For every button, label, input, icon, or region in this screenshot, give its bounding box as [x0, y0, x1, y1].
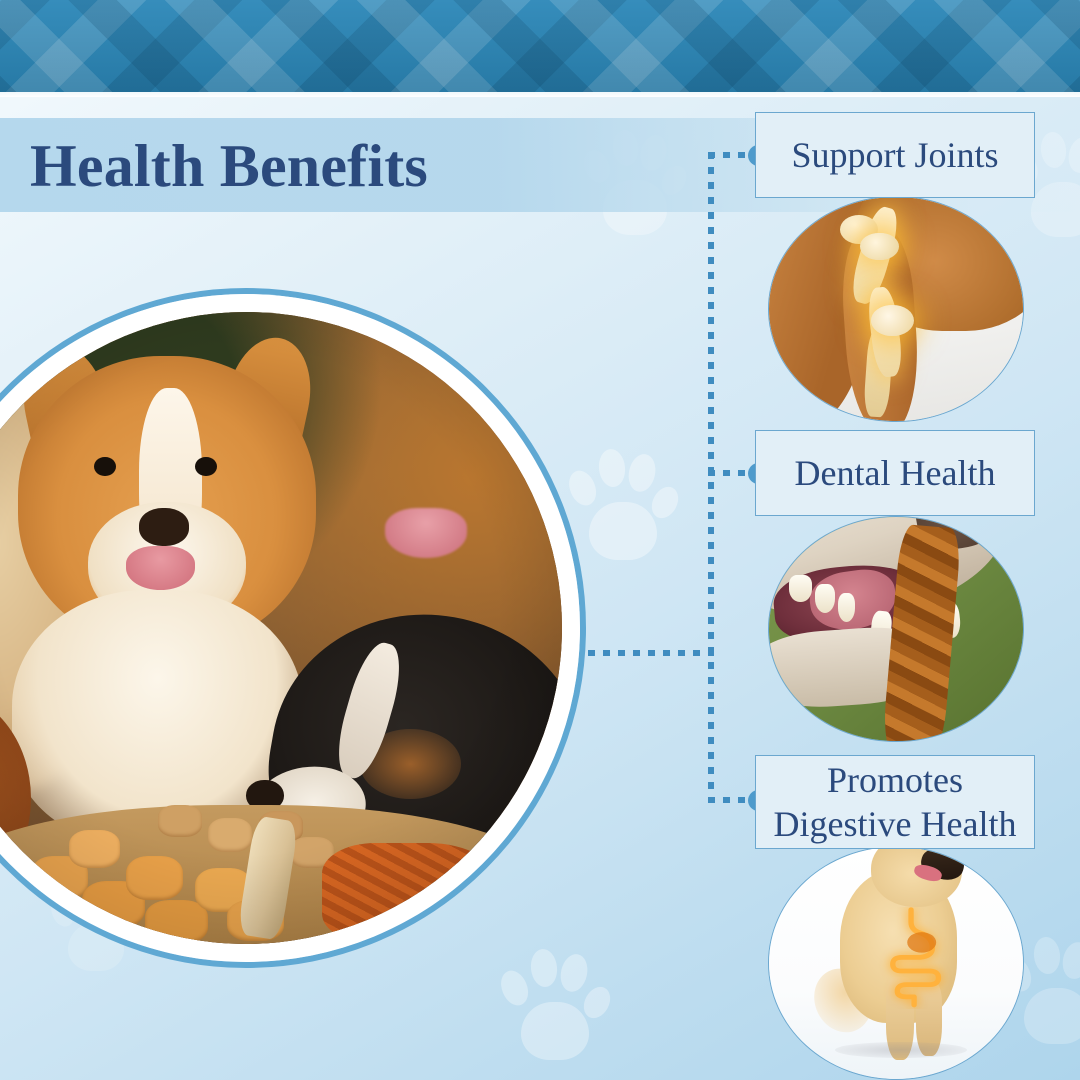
top-banner	[0, 0, 1080, 92]
benefit-label-digestive-health: Promotes Digestive Health	[756, 758, 1034, 846]
hero-photo-image	[0, 312, 562, 944]
banner-bottom-edge	[0, 92, 1080, 97]
benefit-card-support-joints[interactable]: Support Joints	[755, 112, 1035, 198]
benefit-card-dental-health[interactable]: Dental Health	[755, 430, 1035, 516]
connector-hero-to-spine	[588, 650, 714, 656]
thumbnail-dental-health	[768, 516, 1024, 742]
benefit-label-support-joints: Support Joints	[791, 134, 998, 176]
benefit-card-digestive-health[interactable]: Promotes Digestive Health	[755, 755, 1035, 849]
infographic-canvas: Health Benefits	[0, 0, 1080, 1080]
thumbnail-digestive-health	[768, 846, 1024, 1080]
hero-photo-circle	[0, 288, 586, 968]
connector-vertical-spine	[708, 152, 714, 800]
banner-shading	[0, 0, 1080, 92]
benefit-label-dental-health: Dental Health	[795, 452, 996, 494]
digestive-tract-overlay	[876, 907, 952, 1009]
thumbnail-support-joints	[768, 196, 1024, 422]
page-title: Health Benefits	[30, 124, 428, 208]
